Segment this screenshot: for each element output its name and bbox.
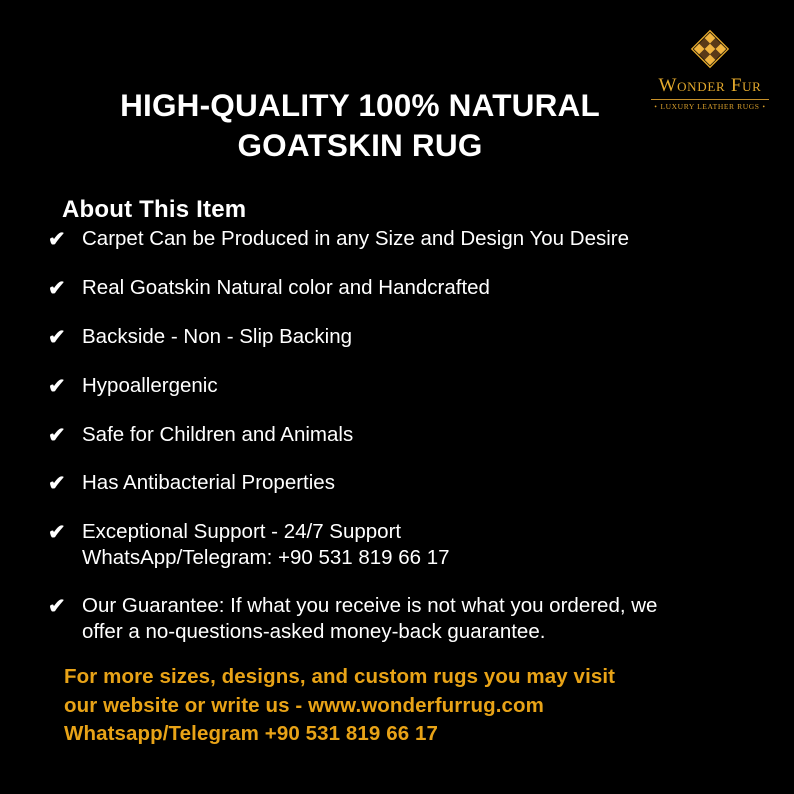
list-item-label: Hypoallergenic bbox=[82, 373, 758, 399]
list-item-label: Real Goatskin Natural color and Handcraf… bbox=[82, 275, 758, 301]
list-item-label: Our Guarantee: If what you receive is no… bbox=[82, 593, 758, 645]
check-icon: ✔ bbox=[48, 470, 82, 498]
footer-line-3-whatsapp: Whatsapp/Telegram +90 531 819 66 17 bbox=[64, 720, 754, 749]
list-item: ✔ Exceptional Support - 24/7 Support Wha… bbox=[48, 519, 758, 571]
check-icon: ✔ bbox=[48, 226, 82, 254]
logo-brand-name: Wonder Fur bbox=[644, 76, 776, 96]
list-item: ✔ Real Goatskin Natural color and Handcr… bbox=[48, 275, 758, 303]
check-icon: ✔ bbox=[48, 324, 82, 352]
list-item: ✔ Backside - Non - Slip Backing bbox=[48, 324, 758, 352]
list-item-label: Has Antibacterial Properties bbox=[82, 470, 758, 496]
list-item: ✔ Hypoallergenic bbox=[48, 373, 758, 401]
list-item: ✔ Has Antibacterial Properties bbox=[48, 470, 758, 498]
list-item-label: Exceptional Support - 24/7 Support Whats… bbox=[82, 519, 758, 571]
check-icon: ✔ bbox=[48, 275, 82, 303]
footer-line-1: For more sizes, designs, and custom rugs… bbox=[64, 663, 754, 692]
gold-diamond-emblem-icon bbox=[687, 26, 733, 72]
list-item-label: Safe for Children and Animals bbox=[82, 422, 758, 448]
list-item: ✔ Safe for Children and Animals bbox=[48, 422, 758, 450]
logo-divider bbox=[651, 99, 769, 100]
check-icon: ✔ bbox=[48, 373, 82, 401]
brand-logo: Wonder Fur •LUXURY LEATHER RUGS• bbox=[644, 26, 776, 111]
list-item-label: Backside - Non - Slip Backing bbox=[82, 324, 758, 350]
list-item: ✔ Our Guarantee: If what you receive is … bbox=[48, 593, 758, 645]
check-icon: ✔ bbox=[48, 422, 82, 450]
list-item-label: Carpet Can be Produced in any Size and D… bbox=[82, 226, 758, 252]
product-infographic: Wonder Fur •LUXURY LEATHER RUGS• HIGH-QU… bbox=[0, 0, 794, 794]
logo-tagline-wrapper: •LUXURY LEATHER RUGS• bbox=[644, 103, 776, 111]
feature-list: ✔ Carpet Can be Produced in any Size and… bbox=[48, 226, 758, 666]
tagline-dot-right-icon: • bbox=[760, 103, 769, 111]
check-icon: ✔ bbox=[48, 593, 82, 621]
footer-line-2-website: our website or write us - www.wonderfurr… bbox=[64, 692, 754, 721]
check-icon: ✔ bbox=[48, 519, 82, 547]
logo-tagline-text: LUXURY LEATHER RUGS bbox=[660, 102, 759, 111]
about-this-item-heading: About This Item bbox=[62, 196, 246, 224]
page-title: HIGH-QUALITY 100% NATURAL GOATSKIN RUG bbox=[60, 85, 660, 166]
contact-footer: For more sizes, designs, and custom rugs… bbox=[64, 663, 754, 749]
list-item: ✔ Carpet Can be Produced in any Size and… bbox=[48, 226, 758, 254]
